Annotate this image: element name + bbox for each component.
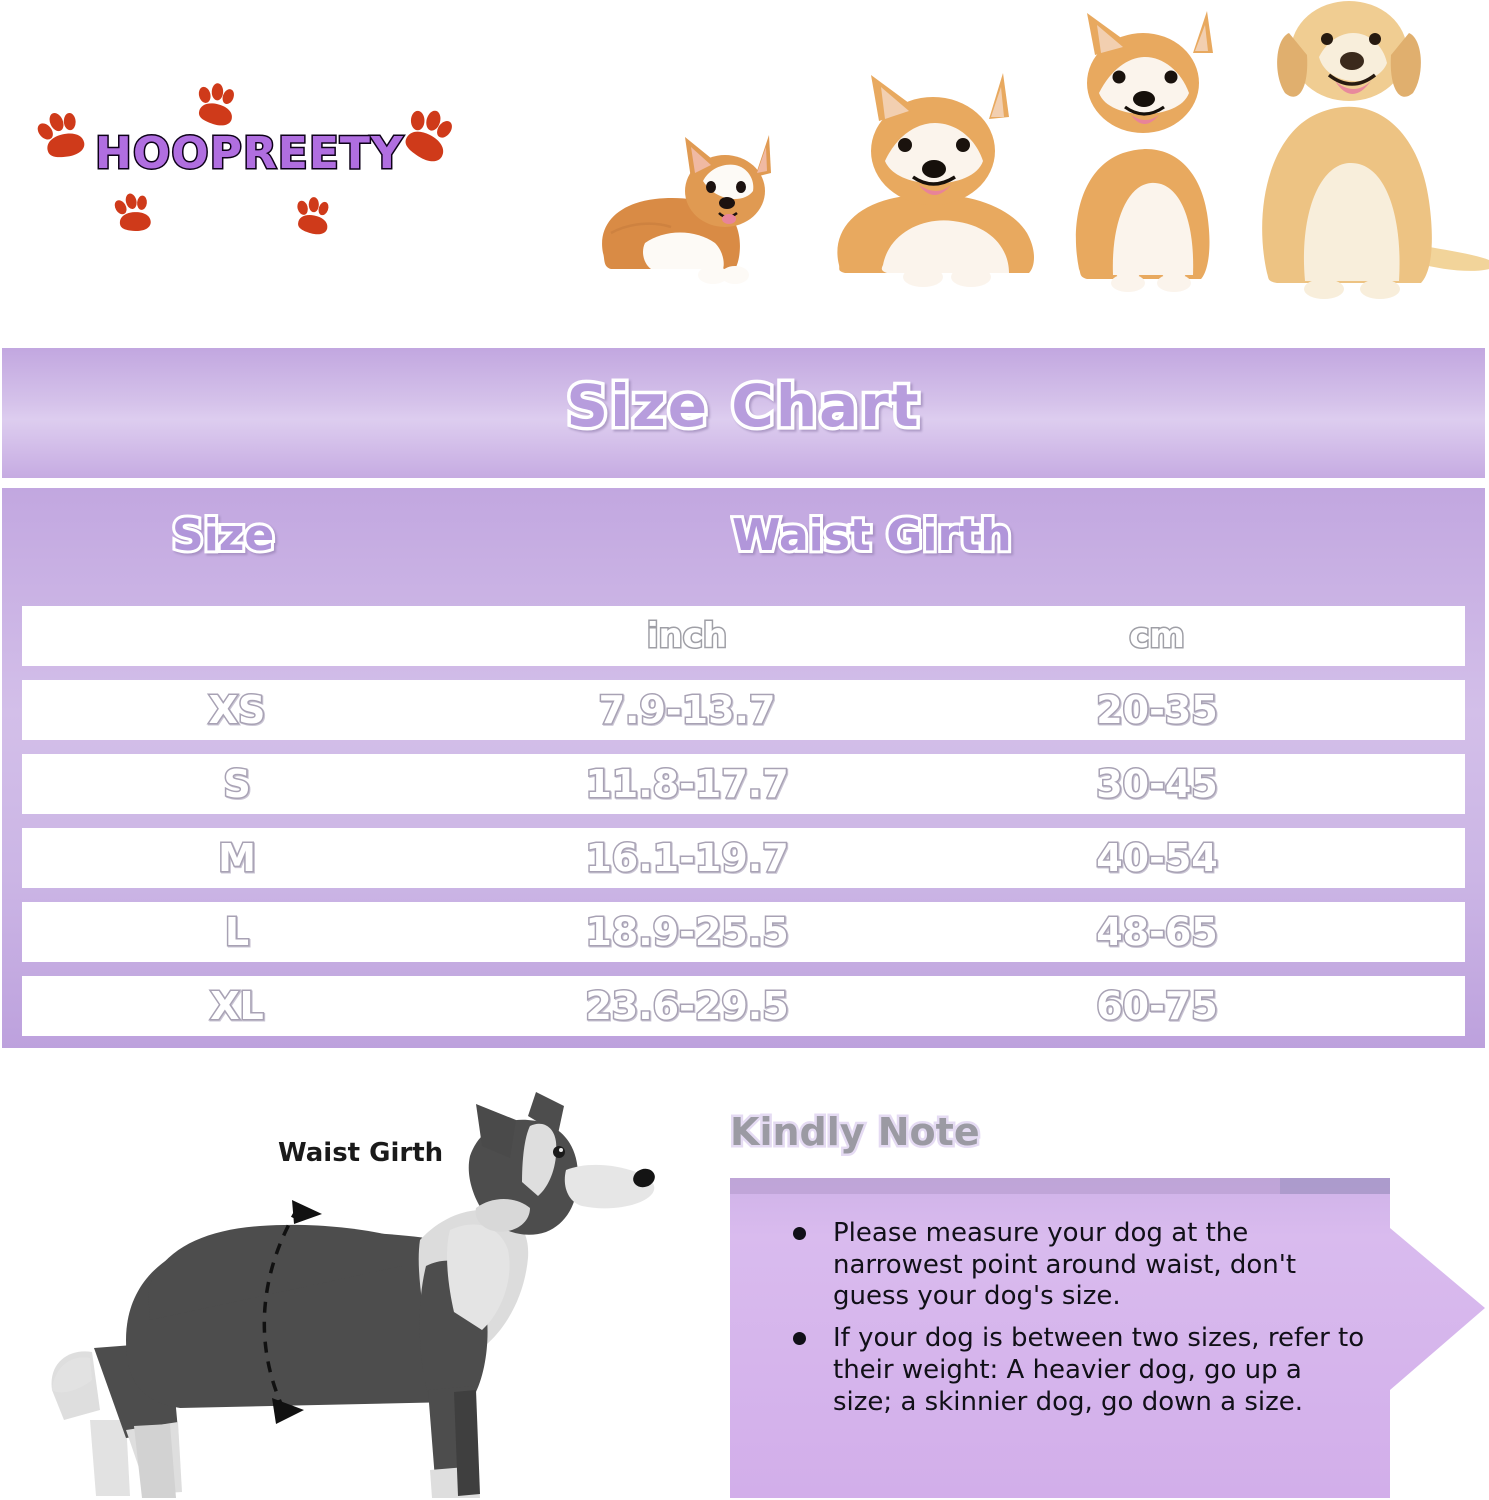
subheader-cm: cm	[922, 616, 1392, 656]
kindly-note-box: Please measure your dog at the narrowest…	[730, 1178, 1485, 1498]
corgi-photo	[585, 103, 805, 298]
cell-size: M	[22, 836, 452, 880]
list-item: If your dog is between two sizes, refer …	[785, 1323, 1365, 1418]
list-item-text: Please measure your dog at the narrowest…	[833, 1218, 1296, 1311]
page-title: Size Chart	[2, 372, 1485, 440]
brand-logo: HOOPREETY	[20, 100, 500, 260]
cell-inch: 11.8-17.7	[452, 762, 922, 806]
size-chart-page: HOOPREETY	[0, 0, 1489, 1500]
column-header-waist-girth: Waist Girth	[732, 510, 1012, 561]
table-row: XL 23.6-29.5 60-75	[22, 976, 1465, 1036]
table-row: L 18.9-25.5 48-65	[22, 902, 1465, 962]
table-row: M 16.1-19.7 40-54	[22, 828, 1465, 888]
cell-size: XS	[22, 688, 452, 732]
cell-inch: 18.9-25.5	[452, 910, 922, 954]
cell-size: L	[22, 910, 452, 954]
cell-size: S	[22, 762, 452, 806]
hero-band: HOOPREETY	[0, 0, 1489, 330]
kindly-note-title: Kindly Note	[730, 1110, 980, 1154]
table-subheader-row: inch cm	[22, 606, 1465, 666]
bullet-icon	[793, 1332, 806, 1345]
cell-size: XL	[22, 984, 452, 1028]
bottom-section: Waist Girth Kindly Note	[0, 1060, 1489, 1500]
cell-cm: 60-75	[922, 984, 1392, 1028]
size-chart-table: Size Waist Girth inch cm XS 7.9-13.7 20-…	[2, 488, 1485, 1048]
golden-retriever-photo	[1223, 0, 1489, 308]
cell-inch: 7.9-13.7	[452, 688, 922, 732]
kindly-note-section: Kindly Note	[715, 1110, 1485, 1500]
paw-print-icon	[107, 189, 161, 243]
list-item-text: If your dog is between two sizes, refer …	[833, 1323, 1364, 1416]
table-body: inch cm XS 7.9-13.7 20-35 S 11.8-17.7 30…	[2, 606, 1485, 1054]
list-item: Please measure your dog at the narrowest…	[785, 1218, 1365, 1313]
shiba-sitting-photo	[1043, 7, 1253, 302]
paw-print-icon	[26, 102, 99, 175]
dog-photo-row	[575, 0, 1489, 320]
table-header: Size Waist Girth	[2, 488, 1485, 606]
cell-cm: 30-45	[922, 762, 1392, 806]
subheader-inch: inch	[452, 616, 922, 656]
cell-cm: 40-54	[922, 836, 1392, 880]
cell-cm: 48-65	[922, 910, 1392, 954]
bullet-icon	[793, 1227, 806, 1240]
paw-print-icon	[288, 194, 339, 245]
cell-inch: 16.1-19.7	[452, 836, 922, 880]
dog-measurement-diagram: Waist Girth	[30, 1090, 690, 1500]
cell-inch: 23.6-29.5	[452, 984, 922, 1028]
column-header-size: Size	[172, 510, 274, 561]
shiba-lying-photo	[813, 65, 1063, 300]
cell-cm: 20-35	[922, 688, 1392, 732]
size-chart-title-band: Size Chart	[2, 348, 1485, 478]
table-row: S 11.8-17.7 30-45	[22, 754, 1465, 814]
kindly-note-list: Please measure your dog at the narrowest…	[785, 1218, 1365, 1428]
brand-name: HOOPREETY	[95, 128, 404, 179]
waist-girth-label: Waist Girth	[278, 1138, 443, 1168]
table-row: XS 7.9-13.7 20-35	[22, 680, 1465, 740]
